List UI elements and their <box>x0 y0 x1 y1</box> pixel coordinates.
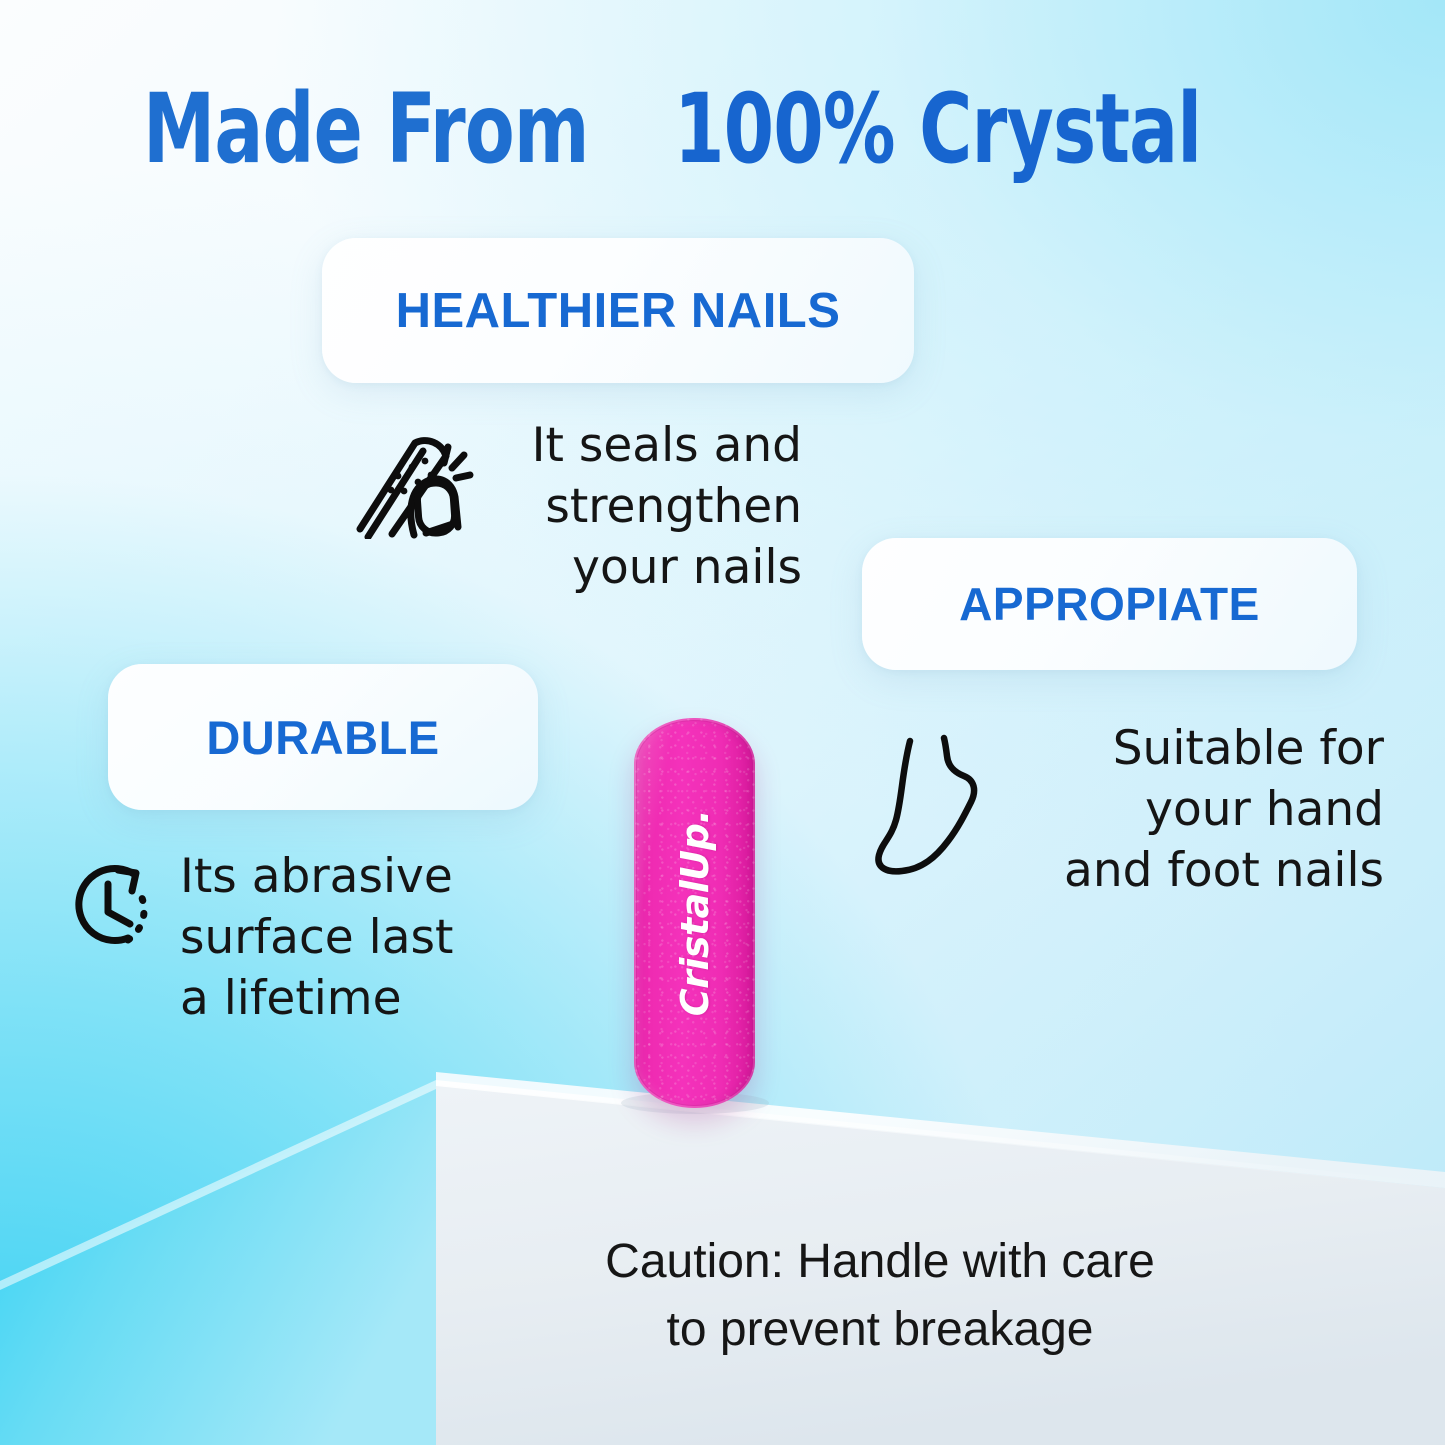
feature-hand-foot-nails: Suitable for your hand and foot nails <box>872 718 1384 901</box>
caution-note: Caution: Handle with care to prevent bre… <box>500 1228 1260 1364</box>
feature-durable-text: Its abrasive surface last a lifetime <box>180 846 500 1029</box>
badge-durable-label: DURABLE <box>206 710 439 765</box>
badge-healthier-nails: HEALTHIER NAILS <box>322 238 914 383</box>
badge-appropiate-label: APPROPIATE <box>959 577 1260 631</box>
badge-healthier-nails-label: HEALTHIER NAILS <box>396 283 841 339</box>
title-part-light: Made From <box>143 78 589 182</box>
promo-graphic: Made From 100% Crystal HEALTHIER NAILS A… <box>0 0 1445 1445</box>
badge-appropiate: APPROPIATE <box>862 538 1357 670</box>
badge-durable: DURABLE <box>108 664 538 810</box>
title-part-heavy: 100% Crystal <box>674 78 1201 182</box>
nail-file-sparkle-icon <box>352 421 478 598</box>
foot-outline-icon <box>872 728 990 901</box>
feature-seals-text: It seals and strengthen your nails <box>504 415 802 598</box>
feature-foot-text: Suitable for your hand and foot nails <box>1014 718 1384 901</box>
brand-logo-text: CristalUp. <box>673 810 717 1017</box>
feature-durable-lifetime: Its abrasive surface last a lifetime <box>58 846 500 1029</box>
feature-seals-strengthen: It seals and strengthen your nails <box>352 415 802 598</box>
page-title: Made From 100% Crystal <box>0 78 1445 182</box>
clock-rotate-icon <box>58 854 162 1029</box>
nail-file-product: CristalUp. <box>634 718 755 1108</box>
